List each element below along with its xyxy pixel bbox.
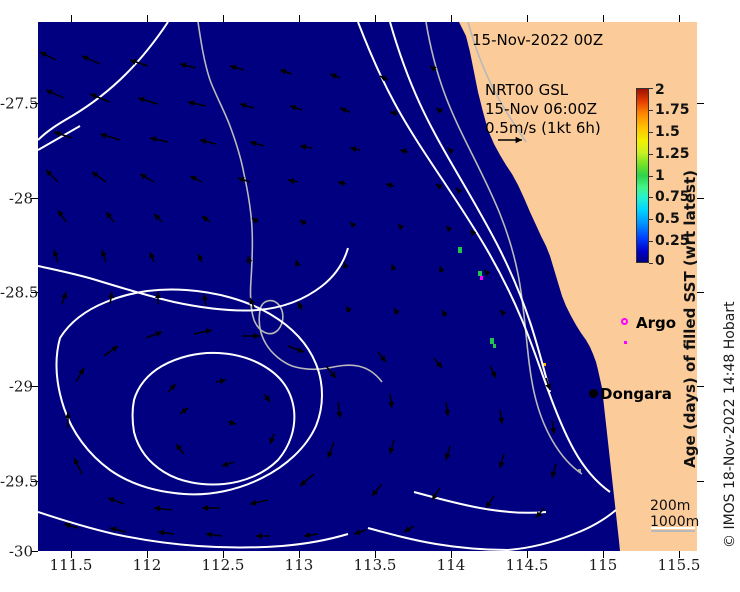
colorbar-tick [649,219,653,220]
colorbar-label: 2 [655,82,665,98]
x-tick-top [71,15,72,22]
colorbar-tick [649,154,653,155]
colorbar-label: 1 [655,168,665,184]
colorbar-tick [649,263,653,264]
colorbar-tick [649,88,653,89]
depth-contour-legend: 200m 1000m [650,498,699,530]
x-tick-top [147,15,148,22]
x-axis-label: 115.5 [658,556,701,574]
x-tick-top [375,15,376,22]
depth-1000m-rule [651,530,695,532]
colorbar-label: 0 [655,253,665,269]
dongara-label: Dongara [600,385,672,403]
x-axis-label: 114 [437,556,466,574]
model-info-block: NRT00 GSL 15-Nov 06:00Z 0.5m/s (1kt 6h) [485,81,601,138]
model-name-label: NRT00 GSL [485,81,601,100]
x-axis-label: 111.5 [50,556,93,574]
colorbar-tick [649,132,653,133]
x-tick-top [527,15,528,22]
colorbar-label: 1.5 [655,124,680,140]
x-axis-label: 112.5 [202,556,245,574]
argo-label: Argo [636,314,676,332]
y-axis-label: -29.5 [0,473,38,491]
colorbar-gradient [636,88,649,263]
colorbar-tick [649,241,653,242]
depth-200m-rule [651,527,695,529]
colorbar-label: 0.5 [655,211,680,227]
x-tick-top [451,15,452,22]
y-tick-right [697,198,704,199]
x-tick-top [299,15,300,22]
copyright-credit: © IMOS 18-Nov-2022 14:48 Hobart [722,301,738,548]
y-tick-right [697,103,704,104]
y-tick-right [697,481,704,482]
y-tick-right [697,292,704,293]
y-axis-label: -28.5 [0,284,38,302]
y-axis-label-row: -30 [0,542,33,561]
y-axis-label-row: -29 [0,377,33,396]
dongara-town-marker[interactable] [589,389,598,398]
x-axis-label: 113.5 [354,556,397,574]
x-tick-top [679,15,680,22]
colorbar-tick [649,197,653,198]
y-axis-label-row: -28.5 [0,283,33,302]
colorbar-tick [649,176,653,177]
x-axis-label: 115 [589,556,618,574]
colorbar-label: 1.75 [655,102,690,118]
y-axis-label: -27.5 [0,95,38,113]
colorbar-label: 1.25 [655,146,690,162]
map-figure: 15-Nov-2022 00Z NRT00 GSL 15-Nov 06:00Z … [0,0,740,592]
reference-vector-arrow-icon [497,135,527,145]
y-axis-label-row: -28 [0,189,33,208]
x-axis-label: 114.5 [506,556,549,574]
x-tick-top [223,15,224,22]
argo-float-marker[interactable] [621,318,628,325]
y-axis-label-row: -27.5 [0,94,33,113]
x-axis-label: 112 [133,556,162,574]
y-axis-label: -30 [9,543,33,561]
y-tick-right [697,386,704,387]
x-axis-label: 113 [285,556,314,574]
x-tick-top [603,15,604,22]
analysis-timestamp: 15-Nov-2022 00Z [472,31,603,49]
y-axis-label: -29 [9,378,33,396]
forecast-time-label: 15-Nov 06:00Z [485,100,601,119]
y-axis-label: -28 [9,190,33,208]
y-axis-label-row: -29.5 [0,472,33,491]
depth-200m-label: 200m [650,498,699,514]
colorbar-title: Age (days) of filled SST (wrt latest) [681,170,699,468]
colorbar-tick [649,110,653,111]
